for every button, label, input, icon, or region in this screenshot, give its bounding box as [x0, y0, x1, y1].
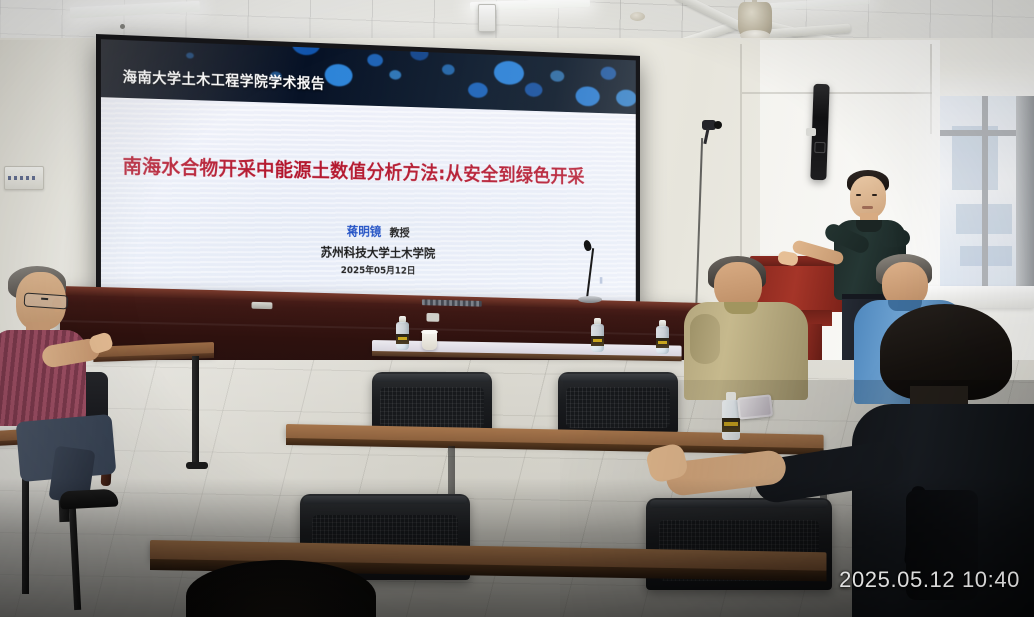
timestamp-overlay: 2025.05.12 10:40	[839, 567, 1020, 593]
water-bottle	[656, 320, 669, 354]
chair-rail	[303, 496, 466, 504]
person-hair	[186, 560, 376, 617]
window-mullion	[982, 96, 988, 292]
ceiling-fixture-icon	[120, 24, 125, 29]
office-chair[interactable]	[372, 372, 492, 434]
water-bottle	[591, 318, 604, 352]
camera-lens-icon	[714, 121, 722, 129]
presenter-eye	[872, 194, 877, 196]
slide-header-title: 海南大学土木工程学院学术报告	[123, 66, 325, 94]
desk-leg	[192, 356, 199, 466]
eyeglasses-icon	[24, 292, 69, 309]
bottle-label	[722, 418, 740, 432]
chair-rail	[650, 500, 829, 508]
power-strip	[422, 299, 482, 306]
presenter-arm-right	[879, 229, 910, 248]
wall-seam	[742, 92, 932, 94]
led-display[interactable]: 海南大学土木工程学院学术报告 南海水合物开采中能源土数值分析方法:从安全到绿色开…	[96, 34, 640, 308]
microphone-stem	[586, 248, 594, 300]
chair-mesh	[380, 387, 483, 428]
wall-socket-icon	[427, 313, 440, 322]
window-frame	[1016, 96, 1034, 292]
paper-cup	[422, 330, 437, 350]
microphone-base	[578, 296, 602, 303]
bottle-label	[396, 334, 409, 344]
wall-sign	[4, 166, 44, 190]
presenter-mouth	[862, 206, 873, 209]
ceiling-projector-device	[478, 4, 496, 32]
desk-foot	[186, 462, 208, 469]
presenter-eye	[856, 194, 861, 196]
smartphone[interactable]	[737, 394, 773, 419]
wall-seam	[930, 44, 932, 134]
wall-speaker-bracket	[806, 128, 816, 136]
presenter-head	[850, 176, 886, 218]
chair-rail	[374, 374, 489, 382]
chair-mesh	[566, 387, 669, 428]
bottle-label	[656, 338, 669, 348]
presenter-collar	[856, 220, 882, 232]
presenter-name: 蒋明镜	[347, 224, 382, 239]
gooseneck-microphone	[576, 240, 602, 302]
person-shoe	[60, 488, 119, 509]
audience-bottom-centre-person	[186, 560, 376, 617]
bottle-label	[591, 336, 604, 346]
slide-body: 南海水合物开采中能源土数值分析方法:从安全到绿色开采 蒋明镜教授 苏州科技大学土…	[101, 97, 636, 303]
person-collar	[724, 302, 758, 314]
presenter-role: 教授	[390, 226, 410, 239]
person-shoulder	[690, 314, 720, 364]
wall-camera	[700, 118, 724, 140]
chair-rail	[560, 374, 675, 382]
office-chair[interactable]	[558, 372, 678, 434]
smoke-detector-icon	[630, 12, 645, 21]
lecture-hall-photo: 海南大学土木工程学院学术报告 南海水合物开采中能源土数值分析方法:从安全到绿色开…	[0, 0, 1034, 617]
audience-khaki-shirt-man	[684, 262, 812, 402]
front-desk-panel-line	[60, 320, 704, 336]
water-bottle	[396, 316, 409, 350]
audience-left-seated-man	[0, 272, 122, 502]
desk-control-device	[252, 302, 273, 309]
